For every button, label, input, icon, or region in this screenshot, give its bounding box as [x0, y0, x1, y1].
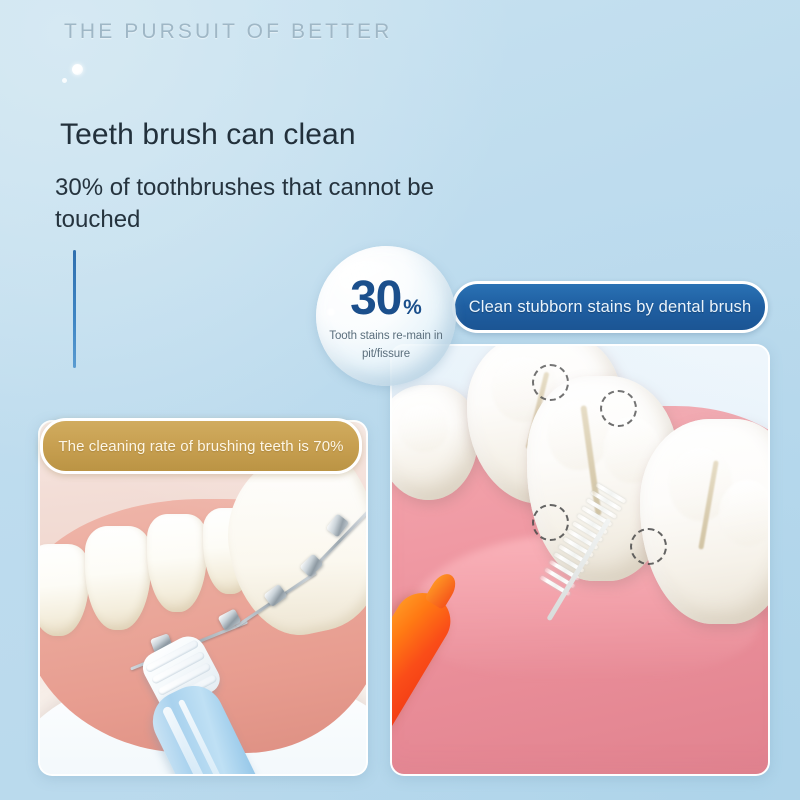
bubble-dot-large-icon: [72, 64, 83, 75]
bubble-dot-small-icon: [62, 78, 67, 83]
page-subtitle: 30% of toothbrushes that cannot be touch…: [55, 172, 485, 235]
badge-caption: Tooth stains re-main in pit/fissure: [322, 328, 450, 362]
blue-banner-label: Clean stubborn stains by dental brush: [469, 298, 752, 317]
tooth: [85, 526, 151, 630]
eyebrow-text: THE PURSUIT OF BETTER: [64, 20, 392, 44]
badge-number: 30: [350, 275, 401, 323]
gold-banner-label: The cleaning rate of brushing teeth is 7…: [58, 438, 343, 455]
blue-banner: Clean stubborn stains by dental brush: [452, 281, 768, 333]
plaque-marker-icon: [600, 390, 637, 427]
handle-stripe: [162, 705, 228, 776]
badge-percent-sign: %: [403, 297, 422, 318]
molar-illustration: [392, 346, 768, 774]
braces-photo: [40, 422, 366, 774]
tooth-cusp: [399, 405, 448, 451]
plaque-marker-icon: [532, 504, 569, 541]
ad-page: THE PURSUIT OF BETTER Teeth brush can cl…: [0, 0, 800, 800]
accent-rule-divider: [73, 250, 76, 368]
percentage-badge: 30 % Tooth stains re-main in pit/fissure: [316, 246, 456, 386]
tooth-cusp: [719, 480, 770, 546]
tooth: [38, 544, 89, 636]
tooth: [147, 514, 207, 612]
plaque-marker-icon: [532, 364, 569, 401]
plaque-marker-icon: [630, 528, 667, 565]
page-title: Teeth brush can clean: [60, 118, 356, 152]
right-image-panel: [390, 344, 770, 776]
gold-banner: The cleaning rate of brushing teeth is 7…: [40, 418, 362, 474]
